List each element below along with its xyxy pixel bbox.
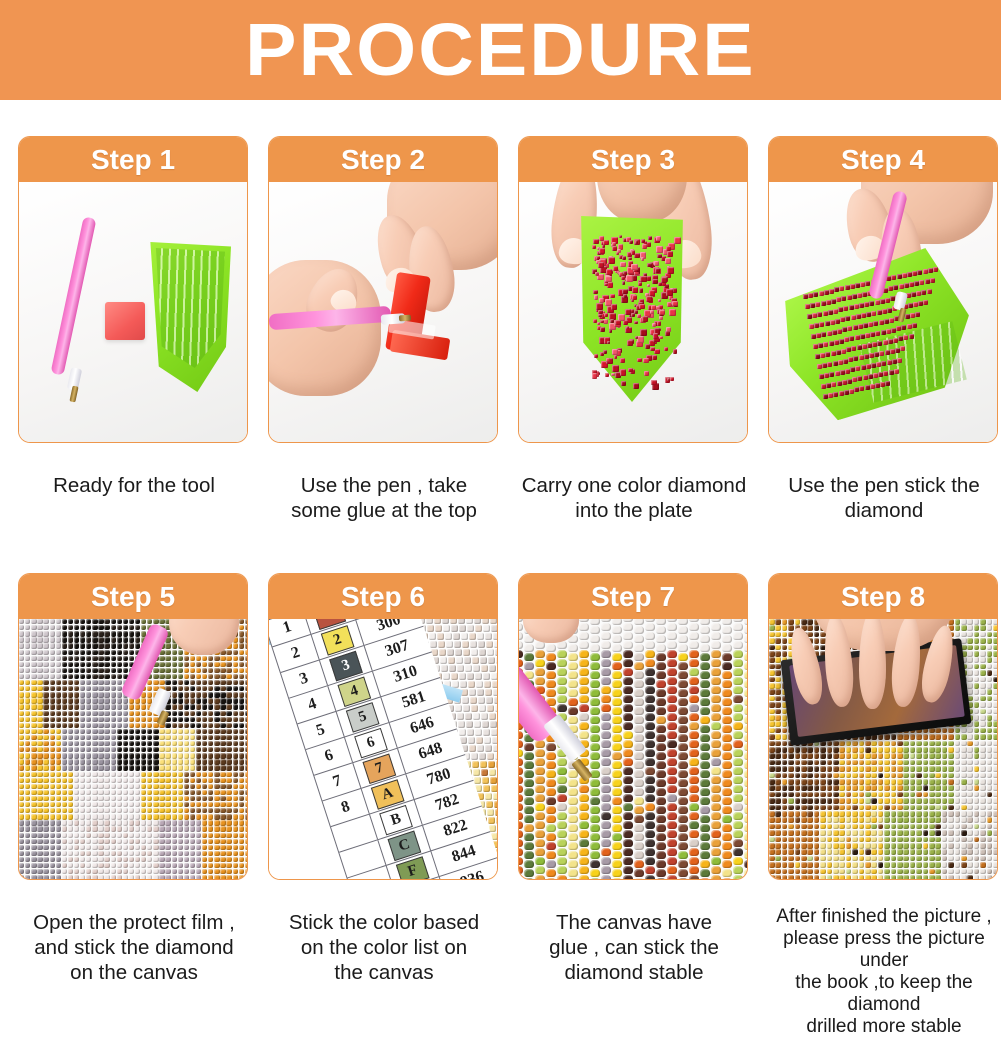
mosaic-bead	[43, 796, 48, 801]
mosaic-bead	[967, 766, 973, 772]
mosaic-bead	[648, 236, 652, 240]
mosaic-bead	[220, 802, 225, 807]
mosaic-bead	[546, 761, 556, 769]
mosaic-bead	[226, 863, 231, 868]
mosaic-bead	[19, 820, 24, 825]
mosaic-bead	[477, 633, 484, 640]
mosaic-bead	[129, 772, 134, 777]
mosaic-bead	[807, 856, 813, 862]
mosaic-bead	[196, 863, 201, 868]
mosaic-bead	[897, 849, 903, 855]
mosaic-bead	[50, 808, 55, 813]
mosaic-bead	[814, 779, 820, 785]
mosaic-bead	[165, 772, 170, 777]
mosaic-bead	[104, 686, 109, 691]
mosaic-bead	[239, 686, 244, 691]
mosaic-bead	[172, 747, 177, 752]
mosaic-bead	[80, 875, 85, 880]
mosaic-bead	[25, 802, 30, 807]
mosaic-bead	[184, 674, 189, 679]
mosaic-bead	[159, 845, 164, 850]
mosaic-bead	[948, 805, 954, 811]
mosaic-bead	[667, 875, 677, 880]
mosaic-bead	[43, 820, 48, 825]
mosaic-bead	[239, 656, 244, 661]
mosaic-bead	[202, 802, 207, 807]
mosaic-bead	[927, 289, 932, 294]
mosaic-bead	[37, 796, 42, 801]
mosaic-bead	[744, 707, 747, 715]
mosaic-bead	[196, 747, 201, 752]
mosaic-bead	[546, 770, 556, 778]
mosaic-bead	[147, 857, 152, 862]
mosaic-bead	[590, 752, 600, 760]
mosaic-bead	[916, 805, 922, 811]
mosaic-bead	[92, 637, 97, 642]
mosaic-bead	[827, 362, 832, 367]
mosaic-bead	[644, 371, 649, 376]
mosaic-bead	[43, 631, 48, 636]
mosaic-bead	[961, 760, 967, 766]
mosaic-bead	[961, 632, 967, 638]
mosaic-bead	[897, 830, 903, 836]
mosaic-bead	[744, 644, 747, 652]
mosaic-bead	[667, 848, 677, 856]
mosaic-bead	[917, 270, 922, 275]
mosaic-bead	[37, 759, 42, 764]
mosaic-bead	[153, 869, 158, 874]
mosaic-bead	[147, 790, 152, 795]
mosaic-bead	[769, 773, 775, 779]
mosaic-bead	[19, 698, 24, 703]
mosaic-bead	[689, 785, 699, 793]
mosaic-bead	[37, 680, 42, 685]
mosaic-bead	[700, 734, 710, 742]
mosaic-bead	[897, 869, 903, 875]
mosaic-bead	[92, 802, 97, 807]
mosaic-bead	[711, 713, 721, 721]
mosaic-bead	[795, 805, 801, 811]
mosaic-bead	[86, 729, 91, 734]
mosaic-bead	[159, 851, 164, 856]
mosaic-bead	[184, 729, 189, 734]
mosaic-bead	[159, 863, 164, 868]
mosaic-bead	[220, 772, 225, 777]
mosaic-bead	[92, 820, 97, 825]
mosaic-bead	[141, 625, 146, 630]
mosaic-bead	[961, 792, 967, 798]
step-2-card: Step 2	[268, 136, 498, 443]
mosaic-bead	[98, 674, 103, 679]
mosaic-bead	[519, 619, 523, 622]
step-card-8[interactable]: Step 8 After finished the pictu	[768, 573, 1000, 1038]
mosaic-bead	[111, 845, 116, 850]
mosaic-bead	[769, 657, 775, 663]
mosaic-bead	[923, 300, 928, 305]
mosaic-bead	[612, 716, 622, 724]
mosaic-bead	[820, 849, 826, 855]
mosaic-bead	[689, 650, 699, 658]
mosaic-bead	[955, 875, 961, 880]
mosaic-bead	[153, 680, 158, 685]
mosaic-bead	[117, 704, 122, 709]
mosaic-bead	[744, 671, 747, 679]
mosaic-bead	[68, 839, 73, 844]
mosaic-bead	[903, 747, 909, 753]
mosaic-bead	[457, 713, 464, 720]
mosaic-bead	[147, 863, 152, 868]
mosaic-bead	[634, 698, 644, 706]
mosaic-bead	[481, 769, 488, 776]
mosaic-bead	[524, 797, 534, 805]
mosaic-bead	[814, 830, 820, 836]
mosaic-bead	[910, 741, 916, 747]
mosaic-bead	[117, 741, 122, 746]
mosaic-bead	[208, 802, 213, 807]
mosaic-bead	[56, 686, 61, 691]
mosaic-bead	[903, 856, 909, 862]
mosaic-bead	[153, 753, 158, 758]
mosaic-bead	[878, 824, 884, 830]
mosaic-bead	[722, 815, 732, 823]
mosaic-bead	[62, 619, 67, 624]
mosaic-bead	[775, 875, 781, 880]
mosaic-bead	[987, 651, 993, 657]
mosaic-bead	[980, 849, 986, 855]
mosaic-bead	[859, 837, 865, 843]
mosaic-bead	[117, 845, 122, 850]
mosaic-bead	[141, 753, 146, 758]
mosaic-bead	[111, 674, 116, 679]
mosaic-bead	[92, 643, 97, 648]
mosaic-bead	[214, 698, 219, 703]
mosaic-bead	[74, 875, 79, 880]
mosaic-bead	[557, 767, 567, 775]
mosaic-bead	[111, 863, 116, 868]
mosaic-bead	[68, 619, 73, 624]
mosaic-bead	[56, 753, 61, 758]
mosaic-bead	[929, 843, 935, 849]
mosaic-bead	[104, 875, 109, 880]
step-card-5[interactable]: Step 5 Open the protect film , and stick…	[18, 573, 250, 985]
mosaic-bead	[700, 716, 710, 724]
mosaic-bead	[955, 760, 961, 766]
step-card-4[interactable]: Step 4	[768, 136, 1000, 523]
mosaic-bead	[935, 849, 941, 855]
mosaic-bead	[196, 698, 201, 703]
mosaic-bead	[202, 833, 207, 838]
mosaic-bead	[935, 856, 941, 862]
mosaic-bead	[744, 734, 747, 742]
mosaic-bead	[469, 745, 476, 752]
mosaic-bead	[903, 779, 909, 785]
mosaic-bead	[620, 369, 627, 376]
mosaic-bead	[111, 729, 116, 734]
mosaic-bead	[614, 355, 618, 359]
mosaic-bead	[929, 760, 935, 766]
mosaic-bead	[961, 798, 967, 804]
mosaic-bead	[165, 741, 170, 746]
step-card-3[interactable]: Step 3 Carry one color diamond into the …	[518, 136, 750, 523]
mosaic-bead	[859, 779, 865, 785]
mosaic-bead	[519, 740, 523, 748]
mosaic-bead	[827, 766, 833, 772]
mosaic-bead	[903, 785, 909, 791]
mosaic-bead	[884, 792, 890, 798]
mosaic-bead	[897, 766, 903, 772]
mosaic-bead	[942, 792, 948, 798]
mosaic-bead	[884, 830, 890, 836]
step-card-1[interactable]: Step 1 Ready for the tool	[18, 136, 250, 498]
mosaic-bead	[775, 651, 781, 657]
mosaic-bead	[878, 779, 884, 785]
mosaic-bead	[623, 767, 633, 775]
mosaic-bead	[519, 866, 523, 874]
mosaic-bead	[923, 747, 929, 753]
mosaic-bead	[214, 778, 219, 783]
mosaic-bead	[220, 747, 225, 752]
mosaic-bead	[865, 843, 871, 849]
mosaic-bead	[769, 721, 775, 727]
mosaic-bead	[25, 686, 30, 691]
mosaic-bead	[769, 619, 775, 625]
mosaic-bead	[172, 698, 177, 703]
mosaic-bead	[471, 705, 478, 712]
mosaic-bead	[62, 784, 67, 789]
mosaic-bead	[147, 845, 152, 850]
mosaic-bead	[871, 849, 877, 855]
mosaic-bead	[111, 875, 116, 880]
mosaic-bead	[50, 826, 55, 831]
mosaic-bead	[92, 778, 97, 783]
mosaic-bead	[637, 314, 641, 318]
mosaic-bead	[891, 849, 897, 855]
mosaic-bead	[86, 808, 91, 813]
mosaic-bead	[775, 811, 781, 817]
mosaic-bead	[245, 711, 247, 716]
mosaic-bead	[178, 747, 183, 752]
mosaic-bead	[535, 857, 545, 865]
mosaic-bead	[98, 637, 103, 642]
mosaic-bead	[475, 729, 482, 736]
mosaic-bead	[568, 815, 578, 823]
mosaic-bead	[656, 878, 666, 880]
mosaic-bead	[111, 802, 116, 807]
mosaic-bead	[645, 821, 655, 829]
mosaic-bead	[579, 794, 589, 802]
mosaic-bead	[147, 869, 152, 874]
mosaic-bead	[733, 619, 743, 622]
step-4-label: Step 4	[841, 146, 925, 174]
mosaic-bead	[700, 797, 710, 805]
mosaic-bead	[980, 856, 986, 862]
mosaic-bead	[43, 656, 48, 661]
mosaic-bead	[245, 686, 247, 691]
mosaic-bead	[153, 790, 158, 795]
mosaic-bead	[807, 875, 813, 880]
mosaic-bead	[74, 845, 79, 850]
mosaic-bead	[795, 747, 801, 753]
mosaic-bead	[25, 747, 30, 752]
mosaic-bead	[820, 837, 826, 843]
mosaic-bead	[202, 753, 207, 758]
mosaic-bead	[214, 802, 219, 807]
mosaic-bead	[196, 814, 201, 819]
step-card-6[interactable]: Step 6 112230033307443105558166646776488…	[268, 573, 500, 985]
mosaic-bead	[633, 383, 639, 389]
mosaic-bead	[184, 820, 189, 825]
mosaic-bead	[214, 869, 219, 874]
mosaic-bead	[19, 704, 24, 709]
mosaic-bead	[656, 743, 666, 751]
mosaic-bead	[625, 309, 631, 315]
mosaic-bead	[98, 772, 103, 777]
mosaic-bead	[634, 833, 644, 841]
mosaic-bead	[801, 824, 807, 830]
mosaic-bead	[948, 862, 954, 868]
mosaic-bead	[104, 704, 109, 709]
mosaic-bead	[535, 749, 545, 757]
mosaic-bead	[74, 820, 79, 825]
mosaic-bead	[111, 668, 116, 673]
mosaic-bead	[233, 851, 238, 856]
mosaic-bead	[833, 856, 839, 862]
mosaic-bead	[891, 773, 897, 779]
mosaic-bead	[190, 790, 195, 795]
mosaic-bead	[56, 619, 61, 624]
mosaic-bead	[37, 851, 42, 856]
mosaic-bead	[56, 839, 61, 844]
mosaic-bead	[623, 686, 633, 694]
mosaic-bead	[612, 246, 617, 251]
mosaic-bead	[184, 833, 189, 838]
mosaic-bead	[846, 766, 852, 772]
mosaic-bead	[141, 875, 146, 880]
mosaic-bead	[897, 817, 903, 823]
mosaic-bead	[974, 702, 980, 708]
mosaic-bead	[967, 843, 973, 849]
mosaic-bead	[612, 770, 622, 778]
mosaic-bead	[56, 765, 61, 770]
mosaic-bead	[609, 329, 612, 332]
mosaic-bead	[147, 729, 152, 734]
mosaic-bead	[178, 759, 183, 764]
mosaic-bead	[916, 785, 922, 791]
mosaic-bead	[86, 784, 91, 789]
mosaic-bead	[974, 657, 980, 663]
mosaic-bead	[782, 811, 788, 817]
mosaic-bead	[463, 705, 470, 712]
mosaic-bead	[165, 680, 170, 685]
mosaic-bead	[98, 692, 103, 697]
mosaic-bead	[620, 358, 626, 364]
mosaic-bead	[74, 686, 79, 691]
mosaic-bead	[135, 826, 140, 831]
step-card-2[interactable]: Step 2	[268, 136, 500, 523]
step-card-7[interactable]: Step 7 The canvas have glue , can stick …	[518, 573, 750, 985]
mosaic-bead	[25, 845, 30, 850]
mosaic-bead	[233, 656, 238, 661]
mosaic-bead	[489, 713, 496, 720]
mosaic-bead	[165, 863, 170, 868]
mosaic-bead	[935, 811, 941, 817]
mosaic-bead	[31, 784, 36, 789]
mosaic-bead	[700, 842, 710, 850]
mosaic-bead	[910, 830, 916, 836]
mosaic-bead	[245, 845, 247, 850]
mosaic-bead	[769, 869, 775, 875]
mosaic-bead	[974, 849, 980, 855]
mosaic-bead	[74, 656, 79, 661]
mosaic-bead	[31, 650, 36, 655]
mosaic-bead	[612, 869, 622, 877]
mosaic-bead	[98, 723, 103, 728]
mosaic-bead	[117, 723, 122, 728]
mosaic-bead	[557, 812, 567, 820]
mosaic-bead	[25, 826, 30, 831]
mosaic-bead	[68, 808, 73, 813]
mosaic-bead	[878, 856, 884, 862]
mosaic-bead	[178, 741, 183, 746]
mosaic-bead	[31, 747, 36, 752]
mosaic-bead	[202, 680, 207, 685]
mosaic-bead	[700, 698, 710, 706]
mosaic-bead	[233, 686, 238, 691]
mosaic-bead	[935, 830, 941, 836]
mosaic-bead	[233, 833, 238, 838]
mosaic-bead	[524, 752, 534, 760]
mosaic-bead	[117, 717, 122, 722]
mosaic-bead	[801, 869, 807, 875]
mosaic-bead	[56, 820, 61, 825]
mosaic-bead	[202, 662, 207, 667]
mosaic-bead	[25, 680, 30, 685]
mosaic-bead	[141, 808, 146, 813]
mosaic-bead	[178, 857, 183, 862]
mosaic-bead	[208, 674, 213, 679]
mosaic-bead	[980, 696, 986, 702]
mosaic-bead	[599, 236, 604, 241]
mosaic-bead	[967, 792, 973, 798]
mosaic-bead	[744, 788, 747, 796]
mosaic-bead	[141, 851, 146, 856]
mosaic-bead	[178, 845, 183, 850]
mosaic-bead	[98, 796, 103, 801]
mosaic-bead	[967, 683, 973, 689]
mosaic-bead	[80, 747, 85, 752]
mosaic-bead	[233, 662, 238, 667]
mosaic-bead	[56, 729, 61, 734]
mosaic-bead	[490, 777, 497, 784]
mosaic-bead	[623, 758, 633, 766]
mosaic-bead	[37, 826, 42, 831]
mosaic-bead	[722, 797, 732, 805]
mosaic-bead	[462, 641, 469, 648]
mosaic-bead	[159, 674, 164, 679]
mosaic-bead	[929, 785, 935, 791]
mosaic-bead	[859, 856, 865, 862]
mosaic-bead	[667, 632, 677, 640]
mosaic-bead	[807, 753, 813, 759]
mosaic-bead	[700, 860, 710, 868]
mosaic-bead	[239, 662, 244, 667]
mosaic-bead	[722, 671, 732, 679]
mosaic-bead	[891, 734, 897, 740]
mosaic-bead	[833, 773, 839, 779]
mosaic-bead	[689, 830, 699, 838]
mosaic-bead	[62, 656, 67, 661]
mosaic-bead	[37, 637, 42, 642]
